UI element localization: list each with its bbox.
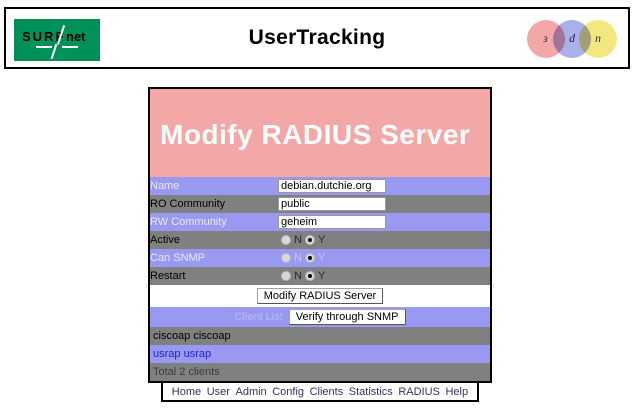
label-restart: Restart bbox=[150, 267, 278, 285]
page-header: SURF net UserTracking з d n bbox=[4, 7, 630, 69]
modify-radius-server-button[interactable]: Modify RADIUS Server bbox=[257, 288, 383, 304]
circle-glyph-3: n bbox=[595, 31, 601, 46]
form-row-ro-community: RO Community bbox=[150, 195, 490, 213]
form-row-can-snmp: Can SNMP N Y bbox=[150, 249, 490, 267]
nav-link-admin[interactable]: Admin bbox=[235, 386, 266, 398]
nav-link-help[interactable]: Help bbox=[445, 386, 468, 398]
verify-through-snmp-button[interactable]: Verify through SNMP bbox=[289, 309, 406, 325]
restart-radio-y-label: Y bbox=[318, 270, 325, 282]
label-ro-community: RO Community bbox=[150, 195, 278, 213]
client-total-text: Total 2 clients bbox=[150, 363, 490, 381]
active-radio-n-label: N bbox=[294, 234, 302, 246]
modify-radius-server-panel: Modify RADIUS Server Name RO Community R… bbox=[148, 87, 492, 383]
label-rw-community: RW Community bbox=[150, 213, 278, 231]
can-snmp-radio-y-label: Y bbox=[318, 252, 325, 264]
can-snmp-radio-n[interactable] bbox=[281, 253, 291, 263]
can-snmp-radio-y[interactable] bbox=[305, 253, 315, 263]
three-circles-logo: з d n bbox=[527, 18, 619, 60]
restart-radio-group: N Y bbox=[278, 270, 490, 282]
nav-link-radius[interactable]: RADIUS bbox=[398, 386, 440, 398]
form-row-name: Name bbox=[150, 177, 490, 195]
active-radio-n[interactable] bbox=[281, 235, 291, 245]
can-snmp-radio-group: N Y bbox=[278, 252, 490, 264]
panel-banner: Modify RADIUS Server bbox=[150, 89, 490, 177]
client-name-1[interactable]: ciscoap ciscoap bbox=[150, 327, 490, 345]
active-radio-y-label: Y bbox=[318, 234, 325, 246]
nav-link-clients[interactable]: Clients bbox=[310, 386, 344, 398]
form-row-active: Active N Y bbox=[150, 231, 490, 249]
submit-cell: Modify RADIUS Server bbox=[150, 285, 490, 307]
label-name: Name bbox=[150, 177, 278, 195]
circle-glyph-1: з bbox=[543, 31, 548, 46]
active-radio-y[interactable] bbox=[305, 235, 315, 245]
client-list-label: Client List bbox=[234, 311, 282, 323]
form-row-submit: Modify RADIUS Server bbox=[150, 285, 490, 307]
client-row-2[interactable]: usrap usrap bbox=[150, 345, 490, 363]
client-list-cell: Client List Verify through SNMP bbox=[150, 307, 490, 327]
label-active: Active bbox=[150, 231, 278, 249]
radius-server-form: Name RO Community RW Community Active bbox=[150, 177, 490, 381]
circle-glyph-2: d bbox=[569, 31, 575, 46]
active-radio-group: N Y bbox=[278, 234, 490, 246]
client-row-1[interactable]: ciscoap ciscoap bbox=[150, 327, 490, 345]
nav-link-statistics[interactable]: Statistics bbox=[349, 386, 393, 398]
nav-link-user[interactable]: User bbox=[207, 386, 230, 398]
nav-link-config[interactable]: Config bbox=[272, 386, 304, 398]
panel-banner-title: Modify RADIUS Server bbox=[160, 119, 470, 151]
can-snmp-radio-n-label: N bbox=[294, 252, 302, 264]
field-ro-community-cell bbox=[278, 195, 490, 213]
client-total-row: Total 2 clients bbox=[150, 363, 490, 381]
form-row-rw-community: RW Community bbox=[150, 213, 490, 231]
form-row-restart: Restart N Y bbox=[150, 267, 490, 285]
field-name-cell bbox=[278, 177, 490, 195]
restart-radio-n[interactable] bbox=[281, 271, 291, 281]
field-rw-community-cell bbox=[278, 213, 490, 231]
field-restart-cell: N Y bbox=[278, 267, 490, 285]
label-can-snmp: Can SNMP bbox=[150, 249, 278, 267]
ro-community-input[interactable] bbox=[278, 197, 386, 211]
restart-radio-n-label: N bbox=[294, 270, 302, 282]
client-name-2[interactable]: usrap usrap bbox=[150, 345, 490, 363]
restart-radio-y[interactable] bbox=[305, 271, 315, 281]
name-input[interactable] bbox=[278, 179, 386, 193]
nav-link-home[interactable]: Home bbox=[172, 386, 201, 398]
footer-navigation: Home User Admin Config Clients Statistic… bbox=[161, 381, 479, 402]
form-row-client-list: Client List Verify through SNMP bbox=[150, 307, 490, 327]
field-can-snmp-cell: N Y bbox=[278, 249, 490, 267]
field-active-cell: N Y bbox=[278, 231, 490, 249]
client-list-header: Client List Verify through SNMP bbox=[150, 309, 490, 325]
rw-community-input[interactable] bbox=[278, 215, 386, 229]
